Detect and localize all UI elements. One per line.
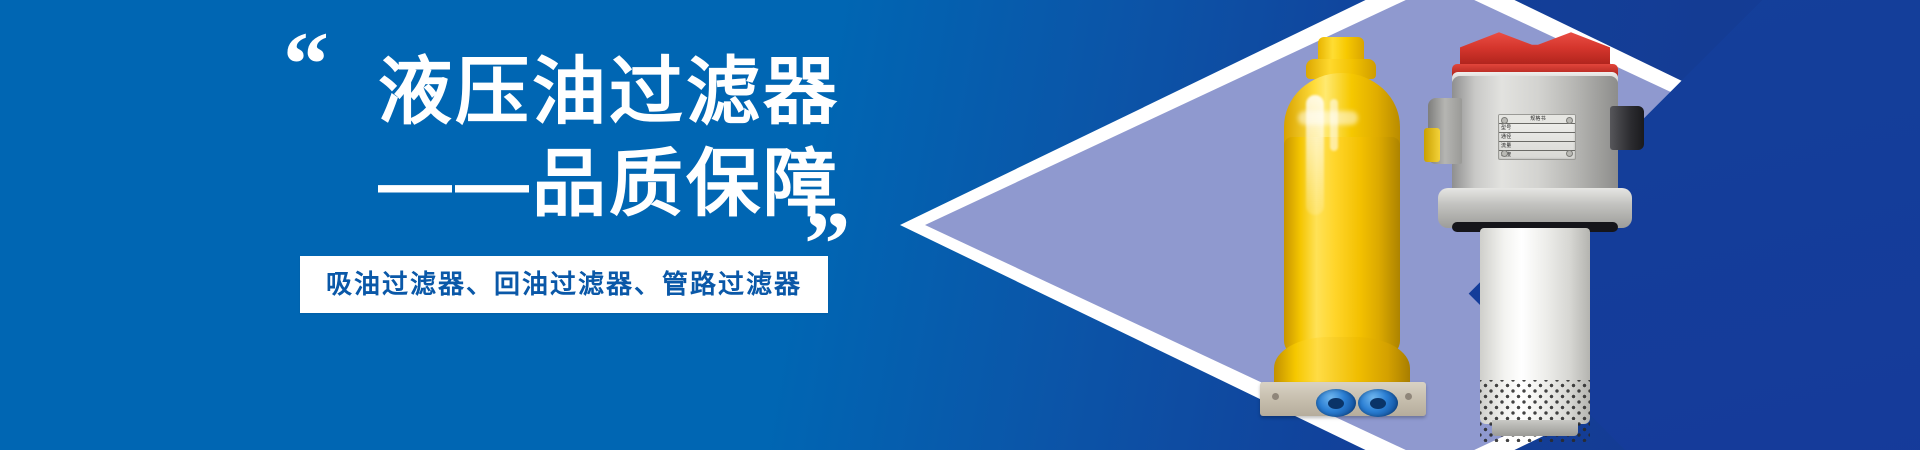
nameplate-row-flow: 流量: [1499, 142, 1575, 151]
page-title-line-1: 液压油过滤器: [0, 48, 840, 135]
nameplate-row-rating: 精度: [1499, 151, 1575, 160]
closing-quote-mark: „: [805, 150, 851, 242]
nameplate-screw-tl: [1501, 117, 1508, 124]
yellow-filter-body: [1284, 137, 1400, 355]
filter-element-bottom-cap: [1492, 420, 1578, 436]
nameplate-row-bore: 通径: [1499, 133, 1575, 142]
base-plate-bolt-right: [1405, 393, 1412, 400]
nameplate-row-model: 型号: [1499, 124, 1575, 133]
port-plug-right: [1358, 389, 1398, 417]
banner-text-block: “ 液压油过滤器 ——品质保障 „ 吸油过滤器、回油过滤器、管路过滤器: [0, 0, 900, 450]
product-yellow-suction-filter: [1258, 37, 1428, 422]
product-return-line-filter: 规格书 型号 通径 流量 精度: [1422, 22, 1650, 442]
base-plate-bolt-left: [1272, 393, 1279, 400]
port-hole-right: [1370, 398, 1386, 409]
subtitle-text: 吸油过滤器、回油过滤器、管路过滤器: [326, 269, 802, 300]
yellow-filter-specular-flare: [1298, 111, 1358, 125]
page-title-line-2: ——品质保障: [0, 140, 840, 227]
yellow-filter-highlight-secondary: [1330, 99, 1338, 151]
filter-yellow-fitting: [1424, 128, 1440, 162]
port-hole-left: [1328, 398, 1344, 409]
nameplate-screw-tr: [1566, 117, 1573, 124]
port-plug-left: [1316, 389, 1356, 417]
nameplate-screw-br: [1566, 150, 1573, 157]
subtitle-box: 吸油过滤器、回油过滤器、管路过滤器: [300, 256, 828, 313]
nameplate-row-title: 规格书: [1499, 115, 1575, 124]
filter-nameplate: 规格书 型号 通径 流量 精度: [1498, 114, 1576, 160]
filter-side-port-right: [1610, 106, 1644, 150]
hydraulic-filter-banner: 规格书 型号 通径 流量 精度: [0, 0, 1920, 450]
product-photo-area: 规格书 型号 通径 流量 精度: [1230, 0, 1710, 450]
nameplate-screw-bl: [1501, 150, 1508, 157]
